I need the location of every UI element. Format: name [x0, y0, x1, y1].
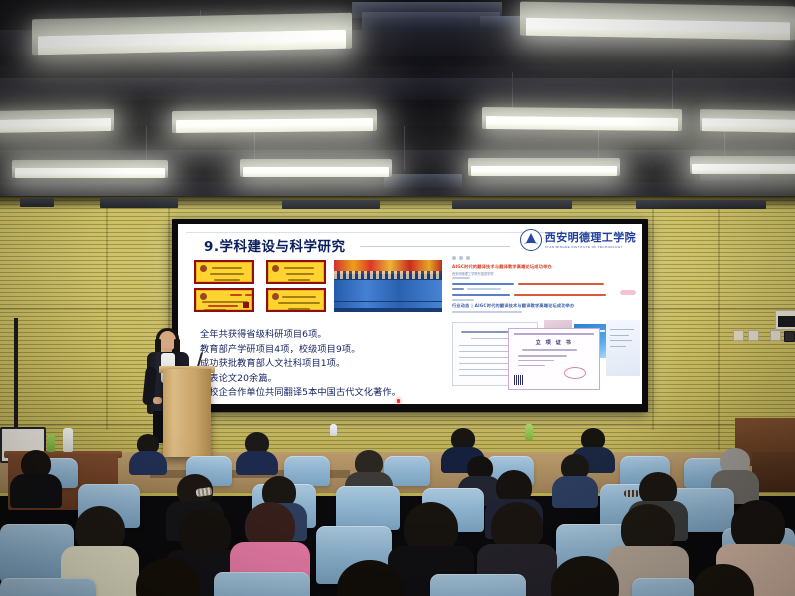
lecture-hall-photo: 9.学科建设与科学研究 西安明德理工学院 XI'AN MINGDE INSTIT…: [0, 0, 795, 596]
slide-body-line: 与校企合作单位共同翻译5本中国古代文化著作。: [200, 386, 490, 401]
wall-trim: [14, 318, 18, 430]
logo-name-en: XI'AN MINGDE INSTITUTE OF TECHNOLOGY: [545, 245, 636, 249]
ceiling-light-fixture: [172, 109, 377, 133]
slide-body-line: 成功获批教育部人文社科项目1项。: [200, 357, 490, 372]
slide-body-line: 全年共获得省级科研项目6项。: [200, 328, 490, 343]
logo-name-cn: 西安明德理工学院: [545, 232, 636, 243]
audience-member: [124, 558, 212, 596]
audience-member: [12, 450, 60, 502]
news-dots-icon: [452, 256, 470, 260]
light-switch[interactable]: [733, 330, 744, 341]
award-thumbnail: [194, 260, 254, 284]
ceiling-light-fixture: [32, 13, 352, 56]
light-switch[interactable]: [770, 330, 781, 341]
ceiling-soffit-box: [100, 198, 178, 208]
award-thumbnail: [266, 260, 326, 284]
project-certificate: 立 项 证 书: [508, 328, 600, 390]
news-tag-pill: [620, 290, 636, 295]
institution-logo: 西安明德理工学院 XI'AN MINGDE INSTITUTE OF TECHN…: [520, 229, 636, 251]
title-underline: [360, 246, 510, 247]
slide-title: 9.学科建设与科学研究: [204, 235, 346, 255]
secondary-certificate-photo: [606, 320, 640, 376]
conference-hall-photo: [334, 260, 442, 312]
projection-screen: 9.学科建设与科学研究 西安明德理工学院 XI'AN MINGDE INSTIT…: [172, 219, 648, 412]
ac-control-panel[interactable]: [775, 310, 795, 330]
slide-body-line: 发表论文20余篇。: [200, 372, 490, 387]
news-item-headline: 行业动态 | AIGC时代的翻译技术与翻译教学高端论坛成功举办: [452, 303, 574, 309]
ceiling-soffit-box: [20, 198, 54, 207]
ceiling-light-fixture: [700, 109, 795, 133]
ceiling-soffit-box: [452, 200, 572, 209]
auditorium-seat: [214, 572, 310, 596]
certificate-qr-icon: [514, 375, 524, 385]
auditorium-seat: [632, 578, 694, 596]
auditorium-seat: [430, 574, 526, 596]
university-seal-icon: [520, 229, 542, 251]
audience-member: [540, 556, 630, 596]
light-switch[interactable]: [748, 330, 759, 341]
ceiling-light-fixture: [0, 109, 114, 133]
ceiling-light-fixture: [468, 158, 620, 176]
ceiling-duct: [384, 174, 462, 188]
audience-member: [130, 434, 166, 472]
ceiling-light-fixture: [12, 160, 168, 178]
certificate-stamp-icon: [564, 367, 586, 379]
audience-member: [237, 432, 277, 472]
audience-member: [553, 454, 597, 502]
auditorium-seat: [336, 486, 400, 530]
ceiling-light-fixture: [690, 156, 795, 174]
audience-seating: [0, 432, 795, 596]
award-thumbnail: [266, 288, 326, 312]
ceiling: [0, 0, 795, 200]
audience-member: [326, 560, 414, 596]
ceiling-light-fixture: [520, 2, 795, 41]
ceiling-light-fixture: [482, 107, 682, 131]
slide-body-text: 全年共获得省级科研项目6项。 教育部产学研项目4项，校级项目9项。 成功获批教育…: [200, 328, 490, 401]
auditorium-seat: [0, 578, 96, 596]
slide-body-line: 教育部产学研项目4项，校级项目9项。: [200, 343, 490, 358]
award-thumbnail: [194, 288, 254, 312]
presentation-slide: 9.学科建设与科学研究 西安明德理工学院 XI'AN MINGDE INSTIT…: [178, 224, 642, 404]
news-headline: AIGC时代的翻译技术与翻译教学高端论坛成功举办: [452, 264, 552, 270]
light-switch[interactable]: [784, 331, 795, 342]
news-article-panel: AIGC时代的翻译技术与翻译教学高端论坛成功举办 西安明德理工学院外国语学院 行…: [452, 256, 634, 314]
certificate-title: 立 项 证 书: [509, 339, 599, 346]
ceiling-soffit-box: [636, 200, 766, 209]
ceiling-light-fixture: [240, 159, 392, 177]
ceiling-soffit-box: [282, 200, 380, 209]
hair-clip-icon: [624, 490, 639, 497]
news-subhead: 西安明德理工学院外国语学院: [452, 271, 493, 276]
laser-pointer-dot: [397, 399, 400, 403]
